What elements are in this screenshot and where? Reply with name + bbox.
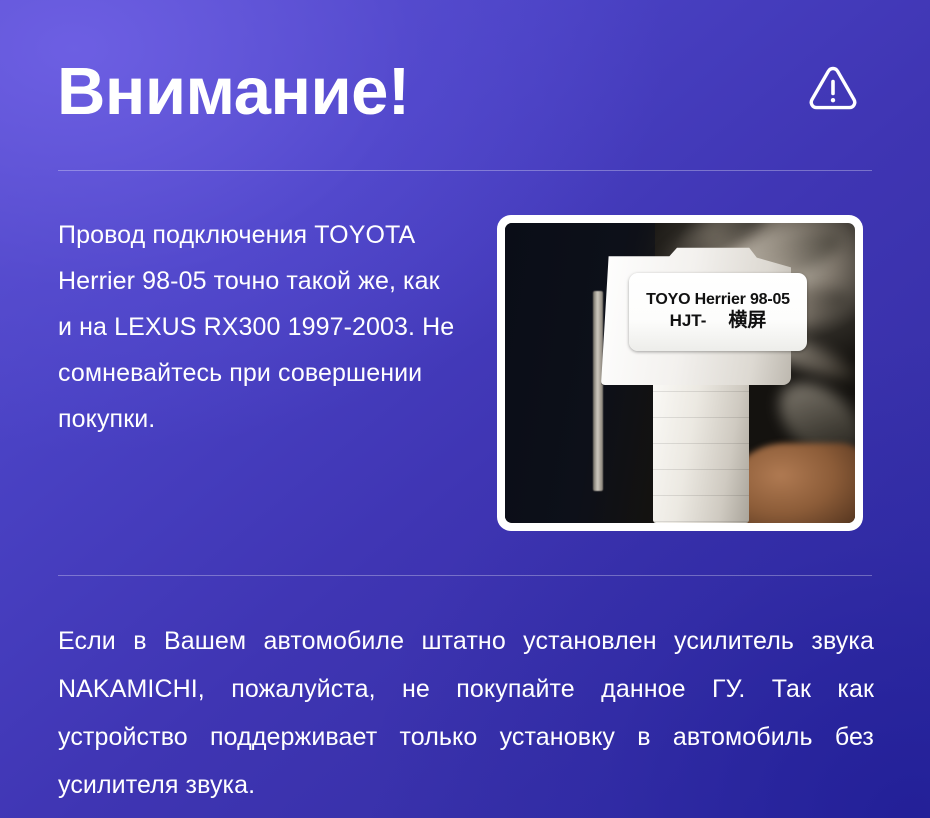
photo-connector-edge xyxy=(593,291,603,491)
photo-connector-label: TOYO Herrier 98-05 HJT- 横屏 xyxy=(629,273,807,351)
divider-top xyxy=(58,170,872,171)
photo-label-line-1: TOYO Herrier 98-05 xyxy=(629,290,807,310)
bottom-paragraph: Если в Вашем автомобиле штатно установле… xyxy=(58,617,874,809)
photo-label-cjk: 横屏 xyxy=(728,310,766,332)
photo-connector: TOYO Herrier 98-05 HJT- 横屏 xyxy=(601,245,791,523)
product-photo-frame: TOYO Herrier 98-05 HJT- 横屏 xyxy=(497,215,863,531)
photo-connector-body xyxy=(653,365,749,523)
photo-label-code: HJT- xyxy=(670,310,707,332)
lead-paragraph: Провод подключения TOYOTA Herrier 98-05 … xyxy=(58,212,458,442)
photo-label-line-2: HJT- 横屏 xyxy=(629,310,807,332)
product-photo: TOYO Herrier 98-05 HJT- 横屏 xyxy=(505,223,855,523)
divider-bottom xyxy=(58,575,872,576)
banner-middle-section: Провод подключения TOYOTA Herrier 98-05 … xyxy=(57,212,873,537)
warning-banner: Внимание! Провод подключения TOYOTA Herr… xyxy=(0,0,930,818)
banner-header: Внимание! xyxy=(57,52,873,140)
warning-triangle-icon xyxy=(807,62,859,114)
page-title: Внимание! xyxy=(57,52,410,132)
